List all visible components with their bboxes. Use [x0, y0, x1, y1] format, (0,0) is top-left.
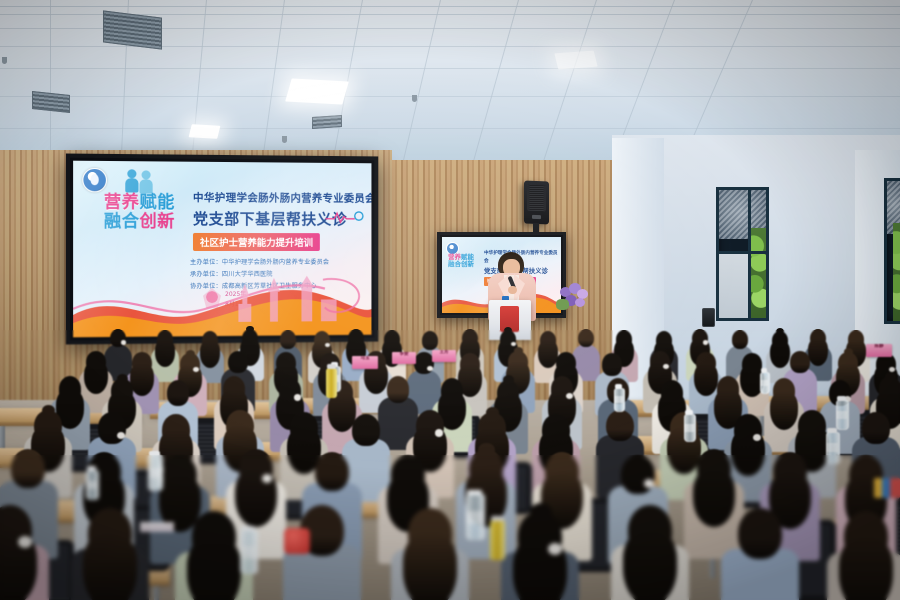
red-cup — [284, 528, 310, 554]
bottle-label — [614, 396, 623, 403]
audience-member-head — [167, 380, 190, 406]
hair-tie — [294, 394, 301, 400]
bottle-label — [760, 380, 768, 386]
audience-member-head — [606, 410, 633, 442]
audience-member-hair — [770, 340, 790, 368]
hair-tie — [121, 340, 126, 344]
audience-member-head — [387, 376, 410, 402]
bottle-cap — [685, 410, 693, 415]
tea-bottle-cap — [327, 364, 336, 369]
name-placard: 王芳 — [432, 350, 456, 362]
hair-bun — [504, 327, 512, 334]
audience-member-hair — [839, 536, 894, 600]
audience-member-head — [11, 449, 45, 488]
bottle-cap — [467, 490, 482, 495]
tea-bottle — [326, 368, 337, 398]
bottle-cap — [87, 466, 96, 471]
bottle-label — [826, 443, 838, 452]
hair-bun — [885, 372, 896, 382]
hair-tie — [18, 536, 32, 548]
bottle-label — [466, 511, 483, 524]
audience-member-head — [790, 351, 809, 373]
tea-bottle — [490, 520, 505, 560]
colored-booklet — [874, 478, 900, 498]
name-placard: 李雯 — [392, 352, 416, 364]
audience-member-hair — [694, 363, 718, 396]
audience-member-hair — [403, 532, 458, 600]
audience-member-hair — [200, 340, 220, 368]
bottle-label — [684, 424, 694, 432]
bottle-cap — [761, 368, 767, 373]
hair-tie — [435, 429, 443, 436]
hair-tie — [117, 432, 125, 439]
bottle-cap — [837, 396, 846, 401]
audience-member-hair — [538, 340, 558, 368]
audience-member-head — [732, 330, 748, 349]
audience-member-head — [228, 351, 247, 373]
hair-tie — [703, 340, 708, 344]
name-placard: 马玉 — [352, 356, 378, 369]
bottle-label — [86, 481, 97, 489]
audience-member-hair — [187, 536, 242, 600]
audience-member-hair — [693, 468, 735, 527]
audience-member-head — [280, 330, 296, 349]
tea-bottle-cap — [491, 516, 504, 521]
conference-room-photo: 营养赋能 融合创新 中华护理学会肠外肠内营养专业委员会 党支部下基层帮扶义诊 社… — [0, 0, 900, 600]
audience-member-head — [738, 508, 782, 559]
audience-member-hair — [130, 363, 154, 396]
audience-member-head — [315, 452, 349, 491]
bottle-label — [836, 411, 847, 419]
audience-member-head — [862, 412, 889, 444]
handout-papers — [140, 522, 174, 532]
audience-member-head — [422, 331, 438, 350]
bottle-cap — [615, 384, 622, 389]
audience-member-hair — [155, 339, 175, 367]
hair-bun — [530, 503, 552, 522]
hair-tie — [325, 343, 330, 347]
bottle-label — [240, 546, 256, 559]
hair-bun — [503, 375, 514, 385]
bottle-cap — [149, 451, 160, 456]
name-placard: 陈静 — [866, 344, 892, 357]
audience-member-hair — [623, 529, 678, 600]
hair-tie — [511, 342, 516, 346]
audience-member-hair — [83, 532, 138, 600]
hair-bun — [514, 347, 524, 355]
hair-tie — [262, 474, 272, 483]
bottle-cap — [827, 428, 837, 433]
hair-tie — [548, 543, 562, 555]
audience-member-head — [602, 353, 621, 375]
hair-tie — [566, 393, 573, 399]
audience-member-hair — [808, 338, 828, 366]
hair-bun — [186, 350, 196, 358]
audience-member-head — [352, 414, 379, 446]
bottle-cap — [241, 526, 255, 531]
smartphone — [702, 308, 715, 327]
audience: 马玉李雯王芳陈静 — [0, 0, 900, 600]
bottle-label — [148, 468, 161, 478]
audience-member-head — [578, 329, 594, 348]
